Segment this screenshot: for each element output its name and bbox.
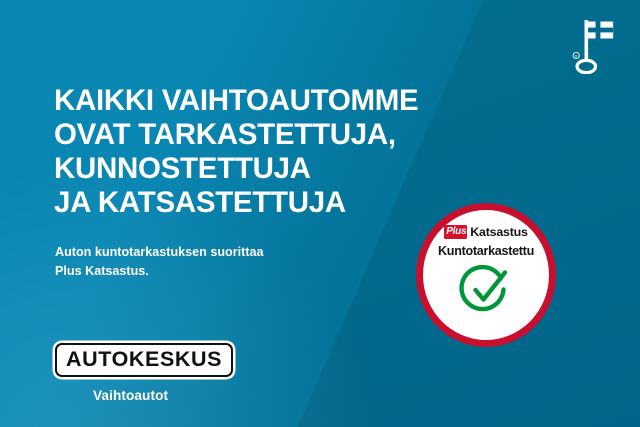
autokeskus-logo[interactable]: AUTOKESKUS Vaihtoautot — [55, 343, 235, 403]
autokeskus-plate: AUTOKESKUS — [55, 343, 233, 377]
plus-chip: Plus — [444, 225, 467, 239]
page-title: KAIKKI VAIHTOAUTOMME OVAT TARKASTETTUJA,… — [54, 84, 418, 220]
svg-text:R: R — [575, 54, 578, 58]
autokeskus-wordmark: AUTOKESKUS — [66, 348, 222, 371]
green-check-circle-icon — [458, 264, 514, 316]
autokeskus-tagline: Vaihtoautot — [93, 388, 235, 403]
plus-chip-label: Plus — [446, 225, 466, 239]
subheading-text: Auton kuntotarkastuksen suorittaa Plus K… — [55, 243, 264, 280]
katsastus-wordmark: Katsastus — [470, 225, 527, 239]
badge-title: Kuntotarkastettu — [438, 244, 534, 258]
inspection-badge: Plus Katsastus Kuntotarkastettu — [416, 203, 556, 347]
plus-katsastus-logo: Plus Katsastus — [444, 225, 527, 239]
avainlippu-key-flag-icon: R — [570, 16, 616, 74]
badge-content: Plus Katsastus Kuntotarkastettu — [416, 203, 556, 347]
promo-banner: R KAIKKI VAIHTOAUTOMME OVAT TARKASTETTUJ… — [0, 0, 640, 427]
